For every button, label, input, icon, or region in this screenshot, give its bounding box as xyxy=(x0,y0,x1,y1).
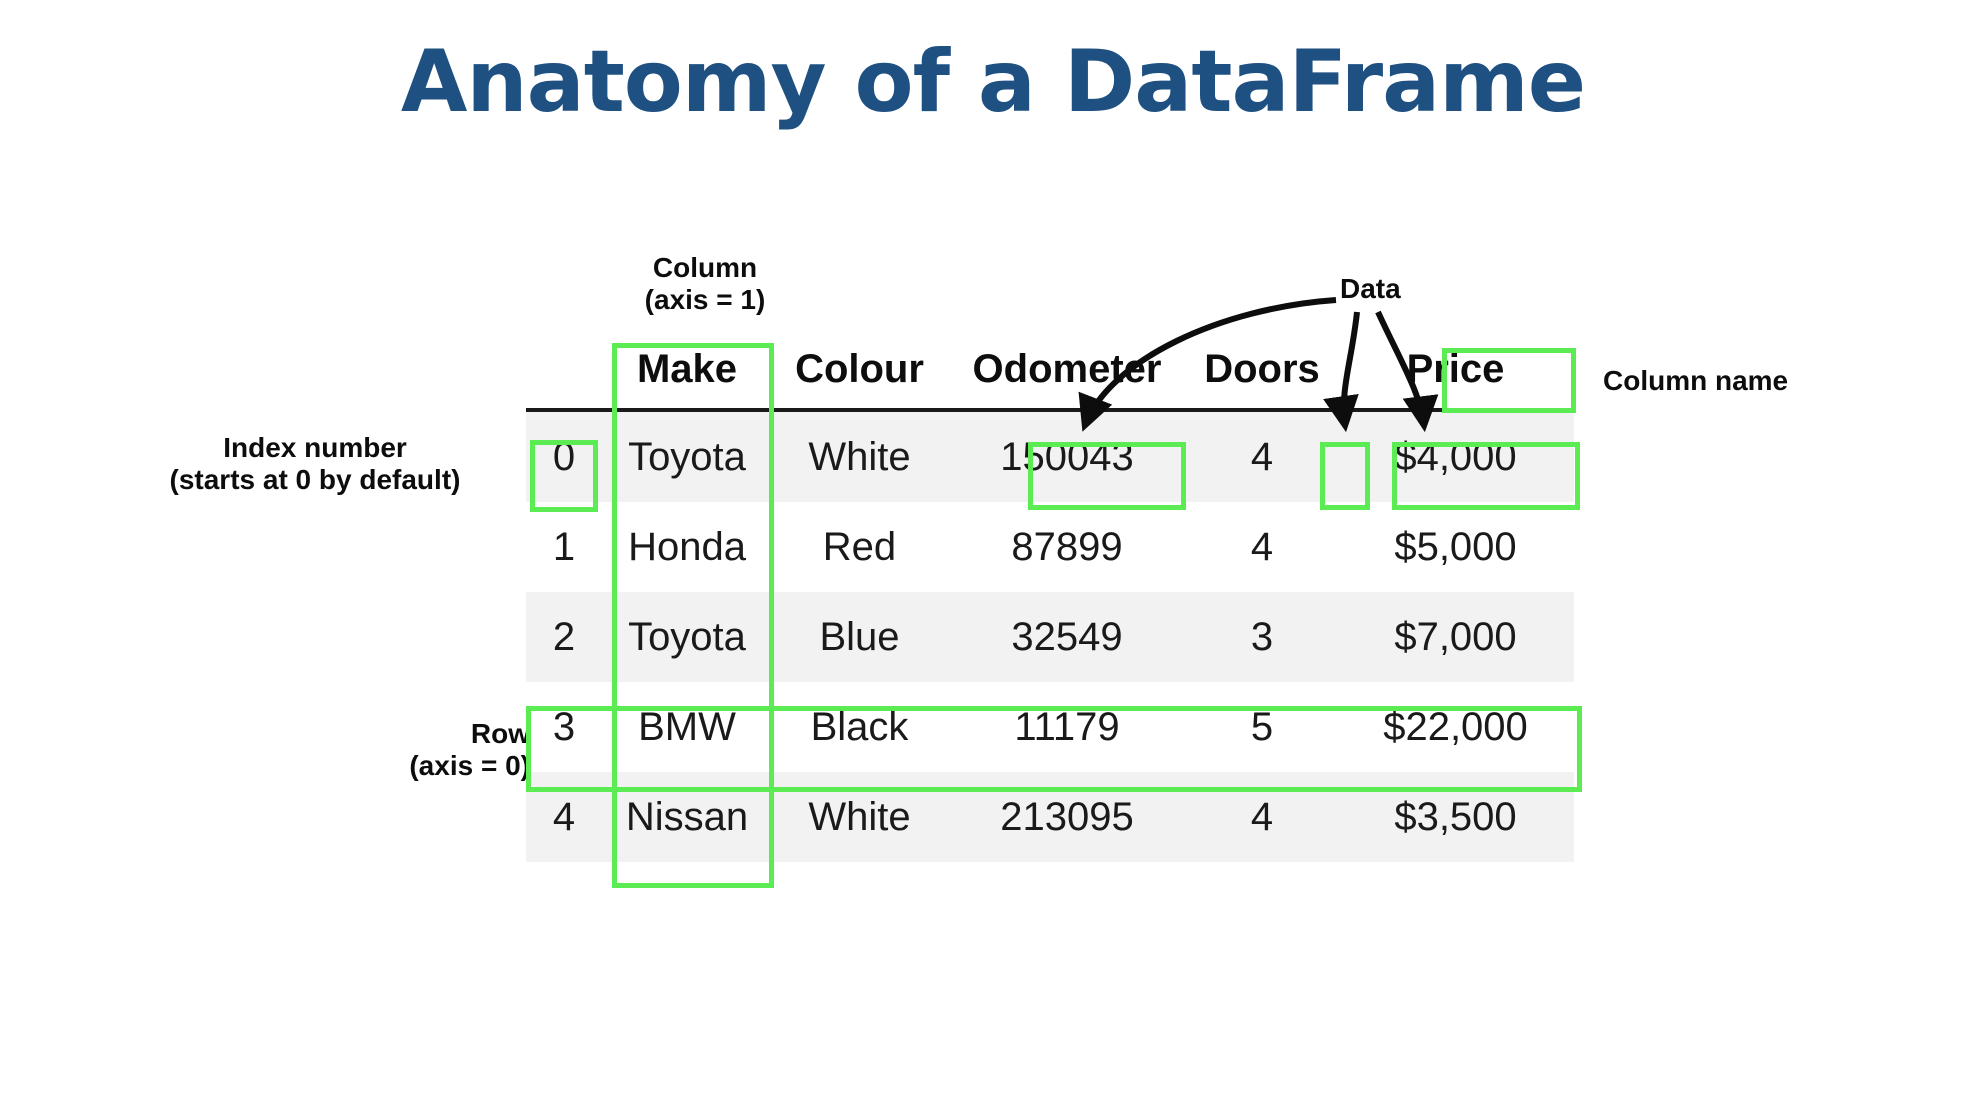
annotation-data: Data xyxy=(1340,273,1401,305)
table-row: 4 Nissan White 213095 4 $3,500 xyxy=(526,772,1574,862)
table-row: 2 Toyota Blue 32549 3 $7,000 xyxy=(526,592,1574,682)
cell-odometer: 11179 xyxy=(947,682,1187,772)
dataframe-table: Make Colour Odometer Doors Price 0 Toyot… xyxy=(526,336,1574,862)
cell-make: Honda xyxy=(602,502,772,592)
cell-index: 3 xyxy=(526,682,602,772)
column-header-doors: Doors xyxy=(1187,336,1337,410)
page-title: Anatomy of a DataFrame xyxy=(0,32,1986,132)
annotation-row-axis: Row (axis = 0) xyxy=(280,718,530,783)
cell-price: $7,000 xyxy=(1337,592,1574,682)
table-row: 3 BMW Black 11179 5 $22,000 xyxy=(526,682,1574,772)
dataframe-anatomy-figure: Anatomy of a DataFrame Column (axis = 1)… xyxy=(0,0,1986,1104)
cell-make: BMW xyxy=(602,682,772,772)
column-header-make: Make xyxy=(602,336,772,410)
cell-odometer: 87899 xyxy=(947,502,1187,592)
cell-odometer: 213095 xyxy=(947,772,1187,862)
cell-colour: White xyxy=(772,410,947,502)
cell-price: $4,000 xyxy=(1337,410,1574,502)
cell-colour: Black xyxy=(772,682,947,772)
cell-odometer: 150043 xyxy=(947,410,1187,502)
cell-price: $3,500 xyxy=(1337,772,1574,862)
cell-index: 4 xyxy=(526,772,602,862)
cell-price: $22,000 xyxy=(1337,682,1574,772)
cell-make: Nissan xyxy=(602,772,772,862)
table-row: 1 Honda Red 87899 4 $5,000 xyxy=(526,502,1574,592)
cell-index: 2 xyxy=(526,592,602,682)
cell-index: 0 xyxy=(526,410,602,502)
column-header-price: Price xyxy=(1337,336,1574,410)
cell-make: Toyota xyxy=(602,410,772,502)
annotation-column-axis: Column (axis = 1) xyxy=(570,252,840,317)
cell-colour: Red xyxy=(772,502,947,592)
column-header-colour: Colour xyxy=(772,336,947,410)
cell-make: Toyota xyxy=(602,592,772,682)
cell-index: 1 xyxy=(526,502,602,592)
column-header-odometer: Odometer xyxy=(947,336,1187,410)
cell-odometer: 32549 xyxy=(947,592,1187,682)
table-row: 0 Toyota White 150043 4 $4,000 xyxy=(526,410,1574,502)
cell-doors: 4 xyxy=(1187,772,1337,862)
cell-doors: 4 xyxy=(1187,410,1337,502)
cell-colour: Blue xyxy=(772,592,947,682)
column-header-index xyxy=(526,336,602,410)
cell-doors: 5 xyxy=(1187,682,1337,772)
cell-price: $5,000 xyxy=(1337,502,1574,592)
annotation-column-name: Column name xyxy=(1603,365,1788,397)
cell-doors: 4 xyxy=(1187,502,1337,592)
annotation-index-number: Index number (starts at 0 by default) xyxy=(110,432,520,497)
table-header-row: Make Colour Odometer Doors Price xyxy=(526,336,1574,410)
cell-colour: White xyxy=(772,772,947,862)
cell-doors: 3 xyxy=(1187,592,1337,682)
